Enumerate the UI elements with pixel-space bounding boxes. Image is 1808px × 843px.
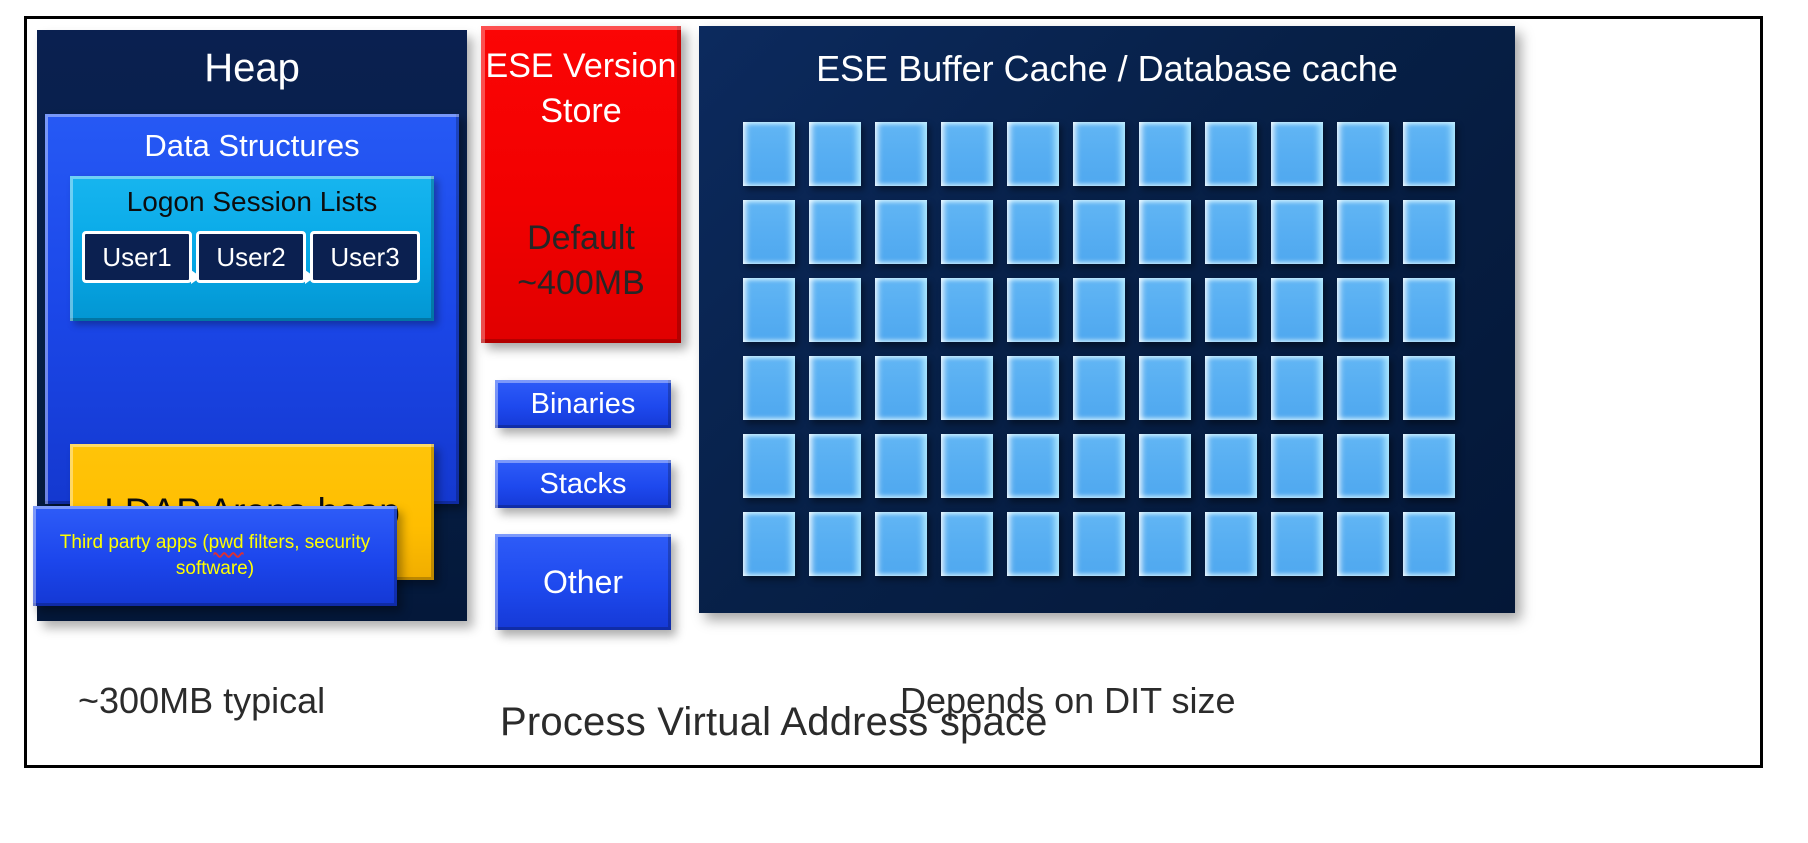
- spellcheck-misspelled-word: pwd: [209, 532, 244, 553]
- cache-block: [1205, 512, 1257, 576]
- cache-block: [1205, 356, 1257, 420]
- caption-heap-size: ~300MB typical: [78, 680, 325, 722]
- cache-block: [1337, 200, 1389, 264]
- cache-block: [875, 122, 927, 186]
- cache-block: [809, 278, 861, 342]
- cache-block: [743, 122, 795, 186]
- cache-block: [743, 512, 795, 576]
- cache-block: [809, 200, 861, 264]
- user-session-item[interactable]: User3: [310, 231, 420, 283]
- cache-block: [1337, 512, 1389, 576]
- logon-session-lists-box: Logon Session Lists User1 User2 User3: [70, 176, 434, 321]
- third-party-prefix: Third party apps (: [60, 532, 209, 553]
- cache-block: [1139, 122, 1191, 186]
- user-session-label: User1: [102, 242, 171, 273]
- cache-block: [1073, 512, 1125, 576]
- cache-block: [1205, 278, 1257, 342]
- cache-block: [1403, 122, 1455, 186]
- cache-block: [809, 122, 861, 186]
- cache-block: [941, 356, 993, 420]
- cache-block: [1271, 122, 1323, 186]
- cache-block: [1271, 512, 1323, 576]
- cache-block: [1205, 200, 1257, 264]
- cache-block: [1403, 200, 1455, 264]
- cache-block: [1007, 122, 1059, 186]
- cache-block: [1271, 356, 1323, 420]
- third-party-suffix: filters, security software): [176, 532, 370, 579]
- binaries-label: Binaries: [531, 388, 636, 421]
- ese-version-store-box: ESE Version Store Default ~400MB: [481, 26, 681, 343]
- third-party-apps-box: Third party apps (pwd filters, security …: [33, 506, 397, 606]
- cache-block: [941, 122, 993, 186]
- cache-block: [1403, 434, 1455, 498]
- cache-block: [1337, 434, 1389, 498]
- cache-block-grid: [743, 122, 1455, 576]
- cache-block: [1271, 278, 1323, 342]
- other-box: Other: [495, 534, 671, 630]
- cache-block: [875, 200, 927, 264]
- user-session-row: User1 User2 User3: [82, 231, 420, 283]
- user-session-item[interactable]: User2: [196, 231, 306, 283]
- cache-block: [1271, 200, 1323, 264]
- cache-block: [941, 278, 993, 342]
- cache-block: [1073, 278, 1125, 342]
- cache-block: [809, 512, 861, 576]
- stacks-label: Stacks: [539, 468, 626, 501]
- cache-block: [743, 434, 795, 498]
- cache-block: [1205, 122, 1257, 186]
- cache-block: [1139, 278, 1191, 342]
- cache-block: [941, 200, 993, 264]
- cache-block: [1205, 434, 1257, 498]
- cache-block: [875, 278, 927, 342]
- binaries-box: Binaries: [495, 380, 671, 428]
- cache-block: [875, 434, 927, 498]
- cache-block: [1073, 200, 1125, 264]
- cache-block: [809, 434, 861, 498]
- cache-block: [875, 512, 927, 576]
- heap-title: Heap: [37, 46, 467, 91]
- process-virtual-address-space-label: Process Virtual Address space: [500, 700, 1200, 745]
- cache-block: [1139, 200, 1191, 264]
- cache-block: [1403, 278, 1455, 342]
- cache-block: [875, 356, 927, 420]
- cache-block: [1139, 356, 1191, 420]
- ese-buffer-cache-panel: ESE Buffer Cache / Database cache: [699, 26, 1515, 613]
- cache-block: [809, 356, 861, 420]
- logon-session-lists-title: Logon Session Lists: [70, 186, 434, 218]
- cache-block: [1403, 356, 1455, 420]
- cache-block: [1073, 122, 1125, 186]
- data-structures-box: Data Structures Logon Session Lists User…: [45, 114, 459, 504]
- slide-canvas: Process Virtual Address space Heap Data …: [0, 0, 1808, 843]
- cache-block: [1337, 278, 1389, 342]
- cache-block: [1271, 434, 1323, 498]
- user-session-item[interactable]: User1: [82, 231, 192, 283]
- cache-block: [1139, 512, 1191, 576]
- cache-block: [743, 356, 795, 420]
- ese-buffer-cache-title: ESE Buffer Cache / Database cache: [699, 48, 1515, 90]
- cache-block: [1007, 356, 1059, 420]
- cache-block: [1073, 434, 1125, 498]
- stacks-box: Stacks: [495, 460, 671, 508]
- other-label: Other: [543, 564, 623, 601]
- cache-block: [1337, 122, 1389, 186]
- cache-block: [941, 434, 993, 498]
- cache-block: [1337, 356, 1389, 420]
- cache-block: [1007, 200, 1059, 264]
- ese-version-store-size: Default ~400MB: [481, 216, 681, 306]
- cache-block: [743, 200, 795, 264]
- cache-block: [1007, 434, 1059, 498]
- cache-block: [1007, 512, 1059, 576]
- cache-block: [941, 512, 993, 576]
- user-session-label: User2: [216, 242, 285, 273]
- user-session-label: User3: [330, 242, 399, 273]
- cache-block: [1139, 434, 1191, 498]
- cache-block: [1073, 356, 1125, 420]
- cache-block: [1007, 278, 1059, 342]
- cache-block: [743, 278, 795, 342]
- cache-block: [1403, 512, 1455, 576]
- data-structures-title: Data Structures: [45, 128, 459, 164]
- ese-version-store-title: ESE Version Store: [481, 44, 681, 134]
- third-party-apps-label: Third party apps (pwd filters, security …: [33, 530, 397, 581]
